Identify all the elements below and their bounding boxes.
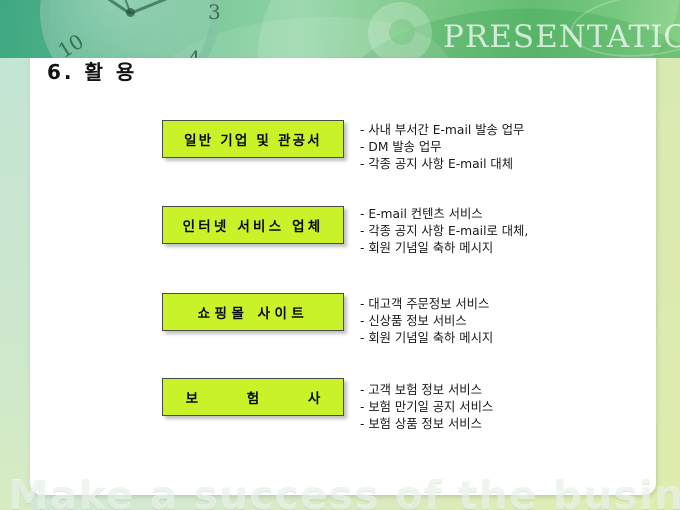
clock-icon: 10 11 2 3 4 [40,0,220,58]
category-label: 쇼핑몰 사이트 [198,302,309,322]
bullet-item: - 보험 만기일 공지 서비스 [360,399,660,416]
presentation-slide: 10 11 2 3 4 PRESENTATION 6. 활 용 일반 기업 및 … [0,0,680,510]
bullet-item: - 사내 부서간 E-mail 발송 업무 [360,122,660,139]
category-label: 인터넷 서비스 업체 [183,215,324,235]
bullet-list-1: - 사내 부서간 E-mail 발송 업무 - DM 발송 업무 - 각종 공지… [360,122,660,173]
category-box-1[interactable]: 일반 기업 및 관공서 [162,120,344,158]
bullet-list-4: - 고객 보험 정보 서비스 - 보험 만기일 공지 서비스 - 보험 상품 정… [360,382,660,433]
footer-watermark: Make a success of the business [8,471,680,510]
bullet-item: - 고객 보험 정보 서비스 [360,382,660,399]
category-box-4[interactable]: 보 험 사 [162,378,344,416]
bullet-item: - 신상품 정보 서비스 [360,313,660,330]
bullet-item: - 회원 기념일 축하 메시지 [360,240,660,257]
category-label: 일반 기업 및 관공서 [184,129,322,149]
page-title: 6. 활 용 [47,56,137,85]
bullet-item: - 회원 기념일 축하 메시지 [360,330,660,347]
bullet-list-2: - E-mail 컨텐츠 서비스 - 각종 공지 사항 E-mail로 대체, … [360,206,660,257]
category-box-3[interactable]: 쇼핑몰 사이트 [162,293,344,331]
bullet-item: - 대고객 주문정보 서비스 [360,296,660,313]
category-label: 보 험 사 [164,387,343,407]
clock-center-pin [126,8,135,17]
clock-numeral: 4 [188,46,201,58]
brand-circle-inner-icon [389,19,415,45]
brand-title: PRESENTATION [443,19,680,55]
bullet-item: - E-mail 컨텐츠 서비스 [360,206,660,223]
bullet-item: - DM 발송 업무 [360,139,660,156]
bullet-item: - 각종 공지 사항 E-mail 대체 [360,156,660,173]
category-box-2[interactable]: 인터넷 서비스 업체 [162,206,344,244]
bullet-item: - 보험 상품 정보 서비스 [360,416,660,433]
left-margin-band [0,58,32,510]
slide-banner: 10 11 2 3 4 PRESENTATION [0,0,680,58]
bullet-list-3: - 대고객 주문정보 서비스 - 신상품 정보 서비스 - 회원 기념일 축하 … [360,296,660,347]
clock-numeral: 3 [208,0,221,24]
bullet-item: - 각종 공지 사항 E-mail로 대체, [360,223,660,240]
